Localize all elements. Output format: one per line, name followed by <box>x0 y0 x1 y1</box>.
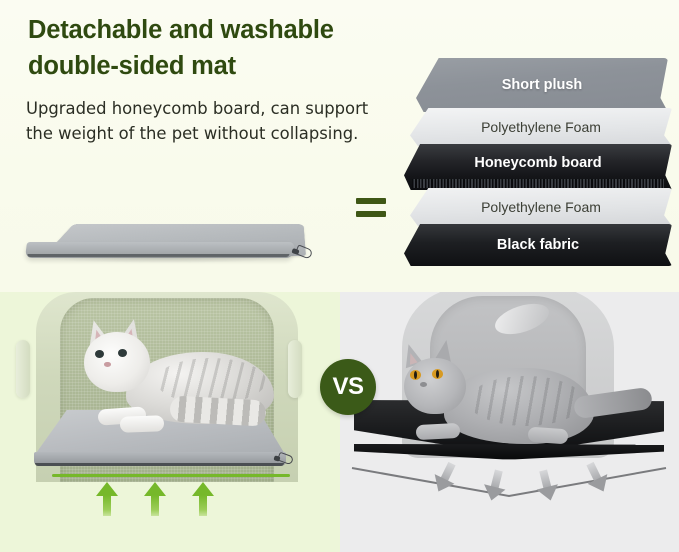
cat-paw-front <box>416 423 461 440</box>
gray-cat <box>388 344 618 464</box>
corrugated-edge <box>412 179 664 188</box>
arrow-stem <box>151 495 159 516</box>
cat-head <box>84 332 150 392</box>
layer-label: Black fabric <box>497 237 579 253</box>
layer-slab: Polyethylene Foam <box>410 108 672 146</box>
arrow-stem <box>199 495 207 516</box>
headline-block: Detachable and washable double-sided mat <box>26 14 398 86</box>
zipper-icon <box>274 454 292 466</box>
equals-bar-top <box>356 198 386 204</box>
cat-paw-rear <box>120 415 165 433</box>
headline-line-2-text: double-sided mat <box>28 52 236 80</box>
headline-line-1: Detachable and washable <box>26 14 337 47</box>
layer-slab: Black fabric <box>404 224 672 266</box>
cat-eye-left <box>410 370 421 380</box>
layer-label: Polyethylene Foam <box>481 199 601 215</box>
arrow-head <box>537 484 562 503</box>
zipper-icon <box>292 247 312 260</box>
layer-honeycomb-board: Honeycomb board <box>404 144 672 190</box>
top-section: Detachable and washable double-sided mat… <box>0 0 679 292</box>
layer-slab: Polyethylene Foam <box>410 188 672 226</box>
layer-polyethylene-foam-bottom: Polyethylene Foam <box>410 188 672 226</box>
arrow-head <box>481 484 506 503</box>
layer-polyethylene-foam-top: Polyethylene Foam <box>410 108 672 146</box>
carrier-handle-right <box>288 340 302 398</box>
layer-slab: Honeycomb board <box>404 144 672 190</box>
cat-nose <box>104 362 111 367</box>
arrow-head <box>96 482 118 496</box>
headline-line-2: double-sided mat <box>26 50 239 83</box>
comparison-panel-pp-board <box>340 292 679 552</box>
cat-eye-left <box>95 350 104 358</box>
comparison-section: Honeycomb board PP board <box>0 292 679 552</box>
carrier-handle-left <box>16 340 30 398</box>
layer-short-plush: Short plush <box>416 58 668 112</box>
mat-illustration <box>14 186 344 281</box>
layer-black-fabric: Black fabric <box>404 224 672 266</box>
arrow-head <box>192 482 214 496</box>
layer-label: Honeycomb board <box>474 155 601 171</box>
cat-paw-rear <box>528 427 569 445</box>
cat-eye-right <box>432 369 443 379</box>
arrow-stem <box>103 495 111 516</box>
product-infographic: Detachable and washable double-sided mat… <box>0 0 679 552</box>
silver-tabby-cat <box>74 320 274 438</box>
cat-nose <box>420 382 427 387</box>
support-line-straight <box>52 474 290 477</box>
mat-shadow <box>34 256 296 263</box>
arrow-head <box>144 482 166 496</box>
vs-badge: VS <box>320 359 376 415</box>
cat-body <box>444 368 594 444</box>
cat-eye-right <box>118 349 127 357</box>
vs-badge-label: VS <box>332 373 363 401</box>
sag-curve-line <box>350 466 668 500</box>
layer-stack-diagram: Short plush Polyethylene Foam Honeycomb … <box>404 58 672 276</box>
up-arrow-icon-1 <box>96 482 118 516</box>
layer-label: Short plush <box>502 77 583 93</box>
cat-head <box>404 358 466 414</box>
up-arrow-icon-2 <box>144 482 166 516</box>
layer-slab: Short plush <box>416 58 668 112</box>
cat-tail <box>169 396 266 427</box>
equals-icon <box>356 198 386 217</box>
layer-label: Polyethylene Foam <box>481 119 601 135</box>
equals-bar-bottom <box>356 211 386 217</box>
mat-edge <box>34 452 286 466</box>
headline-line-1-text: Detachable and washable <box>28 16 334 44</box>
up-arrow-icon-3 <box>192 482 214 516</box>
comparison-panel-honeycomb <box>0 292 340 552</box>
subtext-paragraph: Upgraded honeycomb board, can support th… <box>26 96 386 146</box>
